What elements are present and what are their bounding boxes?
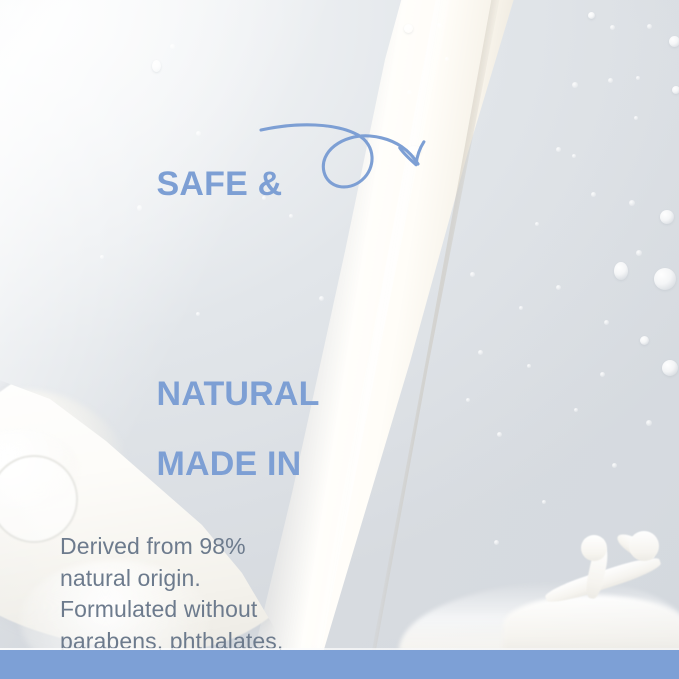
heading-line-1-text: MADE IN	[156, 445, 301, 483]
content-layer: SAFE & NATURAL Derived from 98% natural …	[0, 0, 679, 679]
curly-loop-arrow-icon	[258, 100, 438, 210]
section-made-in-the-usa: MADE IN THE USA All Burt's Bees Natural …	[60, 342, 307, 679]
bottom-accent-bar	[0, 650, 679, 679]
promo-banner: SAFE & NATURAL Derived from 98% natural …	[0, 0, 679, 679]
heading-made-in-the-usa: MADE IN THE USA	[60, 342, 307, 679]
heading-line-1: MADE IN	[60, 412, 301, 517]
heading-line-1: SAFE &	[60, 132, 282, 237]
